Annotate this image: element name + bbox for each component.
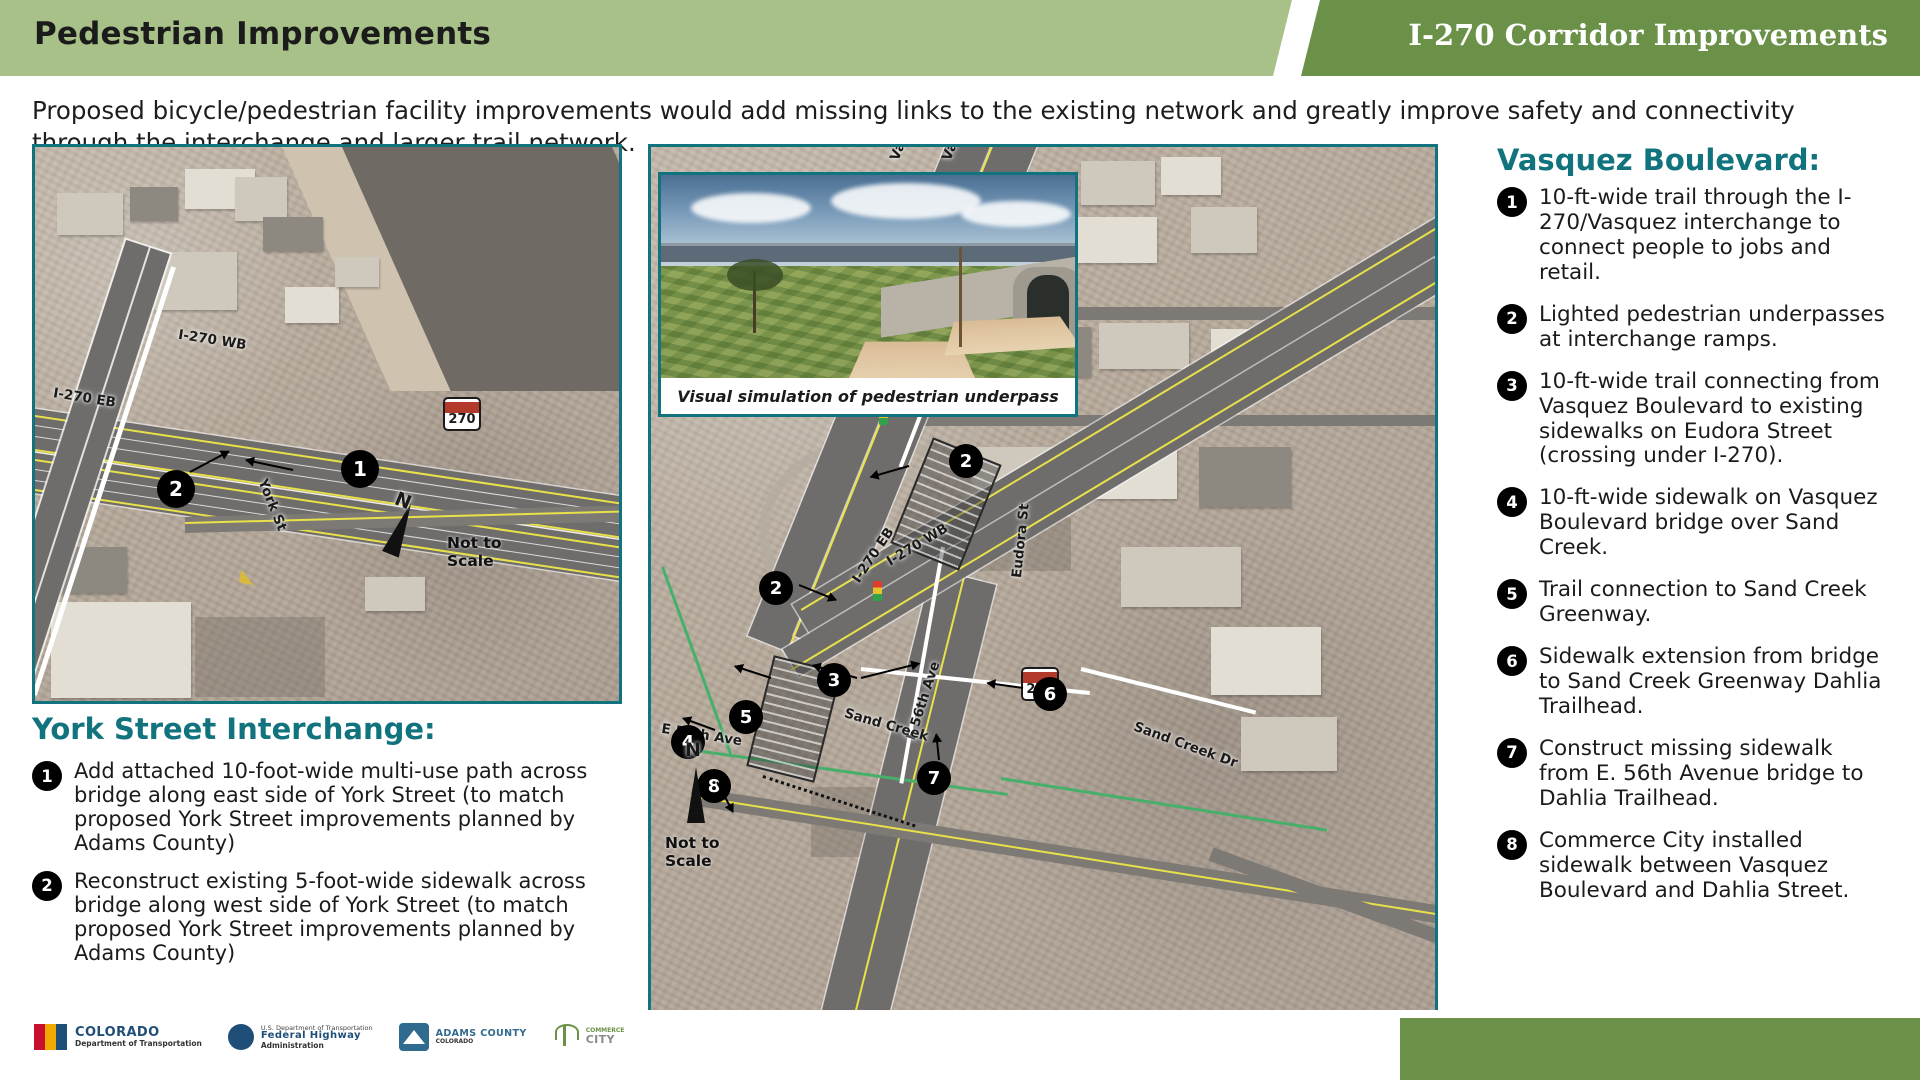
footer-dark-band <box>1365 1018 1920 1080</box>
list-item[interactable]: 8 Commerce City installed sidewalk betwe… <box>1497 829 1889 904</box>
building <box>130 187 178 221</box>
sim-light-pole <box>959 247 962 347</box>
building <box>1161 157 1221 195</box>
list-item[interactable]: 6 Sidewalk extension from bridge to Sand… <box>1497 645 1889 720</box>
commerce-city-tree-icon <box>553 1022 579 1052</box>
compass-north-letter: N <box>685 739 701 761</box>
cloud <box>831 183 981 219</box>
york-street-section-title: York Street Interchange: <box>32 712 436 746</box>
sim-caption: Visual simulation of pedestrian underpas… <box>661 378 1075 414</box>
compass-needle <box>687 767 705 823</box>
page-header: Pedestrian Improvements I-270 Corridor I… <box>0 0 1920 76</box>
list-item[interactable]: 1 Add attached 10-foot-wide multi-use pa… <box>32 760 622 856</box>
fhwa-logo: U.S. Department of Transportation Federa… <box>228 1024 373 1050</box>
shield-number: 270 <box>448 413 475 429</box>
building <box>1071 217 1157 263</box>
project-name: I-270 Corridor Improvements <box>1408 18 1888 52</box>
map-badge-6[interactable]: 6 <box>1033 677 1067 711</box>
not-to-scale-line-1: Not to <box>665 835 720 851</box>
item-number-badge: 2 <box>1497 304 1527 334</box>
building <box>1211 627 1321 695</box>
building <box>1099 323 1189 369</box>
adams-logo-line2: COLORADO <box>436 1039 527 1045</box>
item-text: 10-ft-wide trail through the I-270/Vasqu… <box>1539 186 1889 286</box>
list-item[interactable]: 2 Lighted pedestrian underpasses at inte… <box>1497 303 1889 353</box>
item-text: 10-ft-wide sidewalk on Vasquez Boulevard… <box>1539 486 1889 561</box>
list-item[interactable]: 7 Construct missing sidewalk from E. 56t… <box>1497 737 1889 812</box>
item-number-badge: 8 <box>1497 830 1527 860</box>
item-number-badge: 1 <box>32 761 62 791</box>
item-text: Reconstruct existing 5-foot-wide sidewal… <box>74 870 622 966</box>
item-text: Sidewalk extension from bridge to Sand C… <box>1539 645 1889 720</box>
item-text: Construct missing sidewalk from E. 56th … <box>1539 737 1889 812</box>
page-title: Pedestrian Improvements <box>34 16 491 52</box>
fhwa-logo-text: U.S. Department of Transportation Federa… <box>261 1025 373 1050</box>
item-text: Trail connection to Sand Creek Greenway. <box>1539 578 1889 628</box>
list-item[interactable]: 1 10-ft-wide trail through the I-270/Vas… <box>1497 186 1889 286</box>
building <box>263 217 323 251</box>
building <box>51 602 191 698</box>
item-number-badge: 5 <box>1497 579 1527 609</box>
list-item[interactable]: 3 10-ft-wide trail connecting from Vasqu… <box>1497 370 1889 470</box>
traffic-signal-lights <box>873 581 882 601</box>
list-item[interactable]: 5 Trail connection to Sand Creek Greenwa… <box>1497 578 1889 628</box>
building <box>1191 207 1257 253</box>
building <box>235 177 287 221</box>
item-number-badge: 7 <box>1497 738 1527 768</box>
adams-county-logo-text: ADAMS COUNTY COLORADO <box>436 1029 527 1045</box>
building <box>1081 161 1155 205</box>
item-text: Lighted pedestrian underpasses at interc… <box>1539 303 1889 353</box>
item-text: Add attached 10-foot-wide multi-use path… <box>74 760 622 856</box>
list-item[interactable]: 2 Reconstruct existing 5-foot-wide sidew… <box>32 870 622 966</box>
item-number-badge: 6 <box>1497 646 1527 676</box>
not-to-scale-line-1: Not to <box>447 535 502 551</box>
map-badge-1[interactable]: 1 <box>341 450 379 488</box>
list-item[interactable]: 4 10-ft-wide sidewalk on Vasquez Bouleva… <box>1497 486 1889 561</box>
item-number-badge: 1 <box>1497 187 1527 217</box>
building <box>1241 717 1337 771</box>
building <box>57 193 123 235</box>
building <box>335 257 379 287</box>
cloud <box>961 201 1071 227</box>
building <box>365 577 425 611</box>
building <box>285 287 339 323</box>
sim-highway-bridge <box>661 243 1075 262</box>
york-street-aerial-map[interactable]: I-270 WB I-270 EB York St 270 2 1 N Not … <box>32 144 622 704</box>
map-badge-2-upper[interactable]: 2 <box>949 444 983 478</box>
map-badge-2-lower[interactable]: 2 <box>759 571 793 605</box>
york-street-item-list: 1 Add attached 10-foot-wide multi-use pa… <box>32 760 622 980</box>
sim-tree-canopy <box>727 259 783 291</box>
item-number-badge: 3 <box>1497 371 1527 401</box>
interstate-270-shield: 270 <box>443 397 481 431</box>
not-to-scale-line-2: Scale <box>447 553 494 569</box>
item-number-badge: 4 <box>1497 487 1527 517</box>
not-to-scale-line-2: Scale <box>665 853 712 869</box>
building <box>1199 447 1291 507</box>
cdot-logo-text: COLORADO Department of Transportation <box>75 1026 202 1047</box>
adams-county-mountain-icon <box>399 1023 429 1051</box>
item-text: 10-ft-wide trail connecting from Vasquez… <box>1539 370 1889 470</box>
agency-logos: COLORADO Department of Transportation U.… <box>34 1022 624 1052</box>
map-badge-2[interactable]: 2 <box>157 470 195 508</box>
item-number-badge: 2 <box>32 871 62 901</box>
page-footer: COLORADO Department of Transportation U.… <box>0 1010 1920 1080</box>
cdot-logo-line1: COLORADO <box>75 1026 202 1040</box>
cdot-logo-line2: Department of Transportation <box>75 1040 202 1048</box>
map-badge-5[interactable]: 5 <box>729 700 763 734</box>
cc-logo-line2: CITY <box>586 1034 625 1045</box>
parking-lot <box>195 617 325 697</box>
adams-county-logo: ADAMS COUNTY COLORADO <box>399 1023 527 1051</box>
map-badge-7[interactable]: 7 <box>917 761 951 795</box>
fhwa-seal-icon <box>228 1024 254 1050</box>
item-text: Commerce City installed sidewalk between… <box>1539 829 1889 904</box>
commerce-city-logo: COMMERCE CITY <box>553 1022 625 1052</box>
cdot-flag-icon <box>34 1024 68 1050</box>
vasquez-boulevard-section-title: Vasquez Boulevard: <box>1497 143 1820 177</box>
pedestrian-underpass-simulation[interactable]: Visual simulation of pedestrian underpas… <box>658 172 1078 417</box>
vasquez-boulevard-item-list: 1 10-ft-wide trail through the I-270/Vas… <box>1497 186 1889 921</box>
building <box>1121 547 1241 607</box>
yield-marking <box>239 570 256 586</box>
cloud <box>691 193 811 223</box>
fhwa-logo-line2: Administration <box>261 1042 373 1050</box>
colorado-dot-logo: COLORADO Department of Transportation <box>34 1024 202 1050</box>
commerce-city-logo-text: COMMERCE CITY <box>586 1028 625 1046</box>
